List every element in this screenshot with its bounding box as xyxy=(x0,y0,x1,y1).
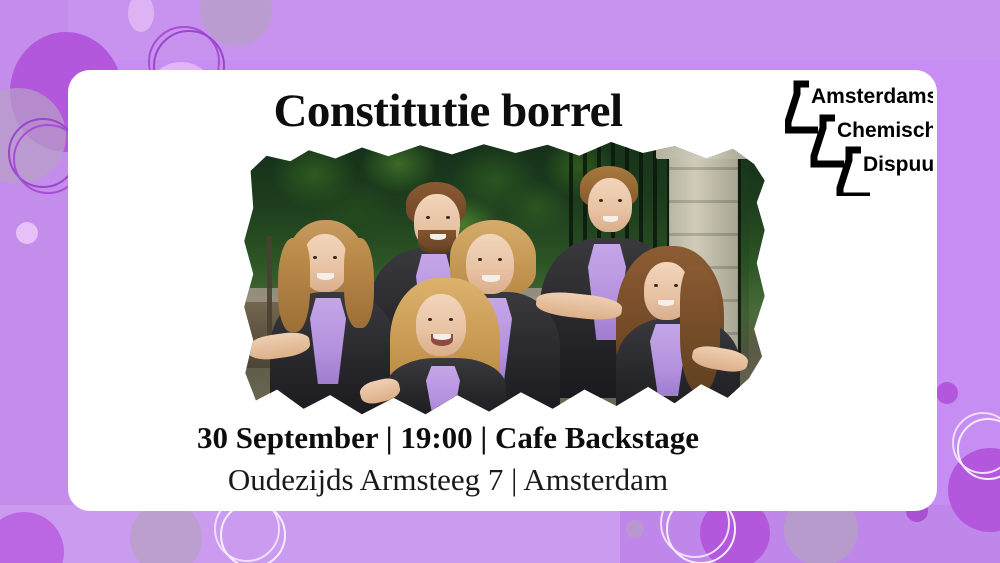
decor-circle-dark-bottomleft xyxy=(0,512,64,563)
logo-line-3: Dispuut xyxy=(863,153,933,176)
poster-card: Constitutie borrel Amsterdams Chemisch D… xyxy=(68,70,937,511)
background-band-bottom xyxy=(0,505,1000,563)
event-photo-torn-clip xyxy=(240,142,770,417)
background-band-left xyxy=(0,0,68,563)
logo-line-2: Chemisch xyxy=(837,119,933,142)
page-title: Constitutie borrel xyxy=(68,84,828,138)
acd-logo: Amsterdams Chemisch Dispuut xyxy=(785,78,933,196)
logo-line-1: Amsterdams xyxy=(811,85,933,108)
decor-ring-inner-rightedge xyxy=(957,418,1000,480)
decor-circle-small-dark-right xyxy=(936,382,958,404)
decor-circle-mauve-topband xyxy=(200,0,272,46)
decor-circle-mauve-topleft xyxy=(0,88,66,184)
event-address-line: Oudezijds Armsteeg 7 | Amsterdam xyxy=(68,462,828,498)
decor-circle-large-dark-rightedge xyxy=(948,448,1000,532)
decor-circle-tiny-bottomstrip xyxy=(626,520,644,538)
poster-canvas: Constitutie borrel Amsterdams Chemisch D… xyxy=(0,0,1000,563)
background-band-bottom-light xyxy=(0,505,620,563)
event-photo xyxy=(240,142,770,417)
photo-bollard xyxy=(267,236,272,346)
photo-pillar-cap xyxy=(656,142,751,159)
decor-ring-outer-rightedge xyxy=(952,412,1000,474)
decor-ring-inner-bottomleft xyxy=(220,502,286,563)
decor-circle-small-light-top xyxy=(128,0,154,32)
decor-circle-mauve-bottomleft2 xyxy=(130,502,202,563)
decor-circle-small-bottomleft xyxy=(16,222,38,244)
background-band-top xyxy=(0,0,1000,60)
acd-logo-svg: Amsterdams Chemisch Dispuut xyxy=(785,78,933,196)
event-details-line: 30 September | 19:00 | Cafe Backstage xyxy=(68,420,828,456)
